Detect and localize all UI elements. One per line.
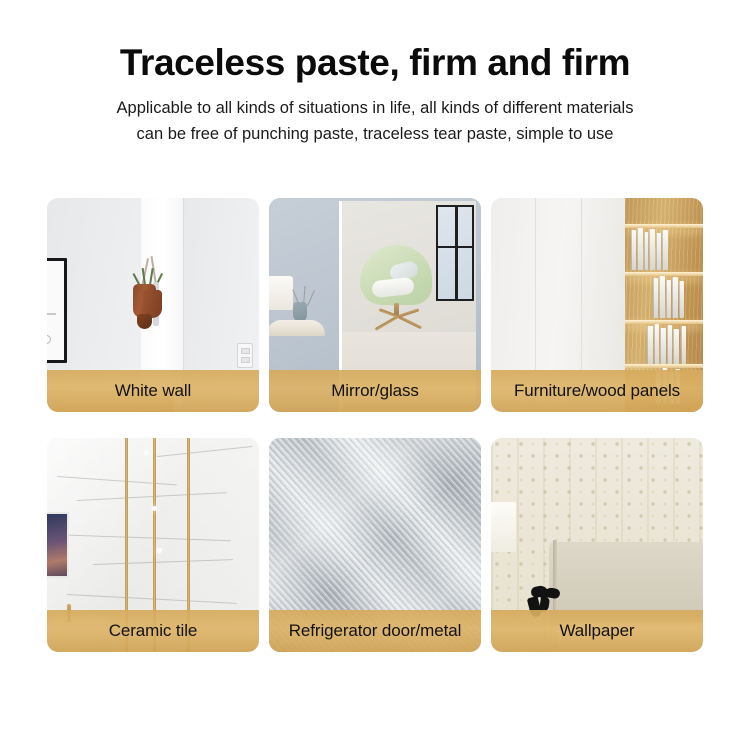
tile-label-band: Furniture/wood panels bbox=[491, 370, 703, 412]
window bbox=[436, 205, 474, 301]
tile-label-text: Refrigerator door/metal bbox=[289, 621, 462, 641]
page-subtitle: Applicable to all kinds of situations in… bbox=[0, 96, 750, 147]
gallery-tile-furniture-wood[interactable]: Furniture/wood panels bbox=[491, 198, 703, 412]
page-title: Traceless paste, firm and firm bbox=[0, 42, 750, 83]
tile-label-band: Mirror/glass bbox=[269, 370, 481, 412]
side-table bbox=[269, 320, 325, 336]
surface-gallery-grid: White wall bbox=[47, 198, 703, 652]
tile-label-band: White wall bbox=[47, 370, 259, 412]
tile-label-text: Furniture/wood panels bbox=[514, 381, 680, 401]
framed-picture bbox=[47, 258, 67, 363]
subtitle-line-1: Applicable to all kinds of situations in… bbox=[0, 96, 750, 122]
framed-artwork bbox=[47, 512, 69, 578]
header: Traceless paste, firm and firm Applicabl… bbox=[0, 0, 750, 148]
tile-label-text: Mirror/glass bbox=[331, 381, 419, 401]
tile-label-band: Refrigerator door/metal bbox=[269, 610, 481, 652]
wall-sconce bbox=[491, 502, 516, 552]
vase bbox=[293, 302, 307, 322]
gallery-tile-wallpaper[interactable]: Wallpaper bbox=[491, 438, 703, 652]
light-switch bbox=[237, 343, 253, 368]
gallery-tile-refrigerator-metal[interactable]: Refrigerator door/metal bbox=[269, 438, 481, 652]
product-infographic: Traceless paste, firm and firm Applicabl… bbox=[0, 0, 750, 750]
gallery-tile-white-wall[interactable]: White wall bbox=[47, 198, 259, 412]
tile-label-text: White wall bbox=[115, 381, 191, 401]
tile-label-band: Wallpaper bbox=[491, 610, 703, 652]
subtitle-line-2: can be free of punching paste, traceless… bbox=[0, 122, 750, 148]
table-lamp bbox=[269, 276, 293, 310]
gallery-tile-mirror-glass[interactable]: Mirror/glass bbox=[269, 198, 481, 412]
tile-label-band: Ceramic tile bbox=[47, 610, 259, 652]
tile-label-text: Wallpaper bbox=[559, 621, 634, 641]
tile-label-text: Ceramic tile bbox=[109, 621, 198, 641]
gallery-tile-ceramic-tile[interactable]: Ceramic tile bbox=[47, 438, 259, 652]
